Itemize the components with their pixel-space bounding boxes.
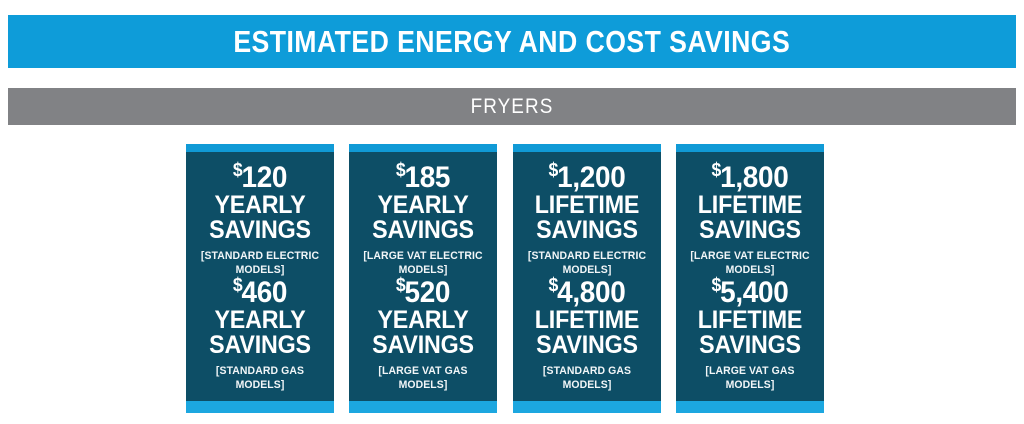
stat-amount: $5,400 — [685, 277, 815, 308]
savings-card: $1,200 LIFETIME SAVINGS [STANDARD ELECTR… — [513, 144, 661, 412]
stat-period: YEARLY — [195, 308, 325, 333]
card-top-accent-bar — [349, 144, 497, 152]
card-bottom-accent-bar — [186, 401, 334, 413]
stat-caption: [LARGE VAT ELECTRIC MODELS] — [683, 250, 816, 278]
card-top-accent-bar — [513, 144, 661, 152]
stat-block: $1,800 LIFETIME SAVINGS [LARGE VAT ELECT… — [680, 162, 820, 277]
stat-amount: $520 — [358, 277, 488, 308]
savings-card: $1,800 LIFETIME SAVINGS [LARGE VAT ELECT… — [676, 144, 824, 412]
savings-card: $185 YEARLY SAVINGS [LARGE VAT ELECTRIC … — [349, 144, 497, 412]
stat-period: YEARLY — [195, 193, 325, 218]
stat-caption: [STANDARD ELECTRIC MODELS] — [520, 250, 653, 278]
stat-amount: $185 — [358, 162, 488, 193]
stat-period: LIFETIME — [522, 193, 652, 218]
stat-savings-word: SAVINGS — [685, 218, 815, 243]
stat-caption: [LARGE VAT ELECTRIC MODELS] — [357, 250, 490, 278]
amount-value: 1,800 — [720, 161, 788, 194]
amount-value: 5,400 — [720, 276, 788, 309]
card-bottom-accent-bar — [513, 401, 661, 413]
page-title: ESTIMATED ENERGY AND COST SAVINGS — [234, 26, 791, 57]
stat-caption: [LARGE VAT GAS MODELS] — [683, 365, 816, 393]
stat-block: $1,200 LIFETIME SAVINGS [STANDARD ELECTR… — [517, 162, 657, 277]
stat-savings-word: SAVINGS — [685, 333, 815, 358]
stat-block: $4,800 LIFETIME SAVINGS [STANDARD GAS MO… — [517, 277, 657, 392]
stat-amount: $1,200 — [522, 162, 652, 193]
stat-block: $460 YEARLY SAVINGS [STANDARD GAS MODELS… — [190, 277, 330, 392]
amount-value: 1,200 — [557, 161, 625, 194]
category-banner: FRYERS — [8, 88, 1016, 125]
card-body: $1,800 LIFETIME SAVINGS [LARGE VAT ELECT… — [676, 152, 824, 401]
amount-value: 4,800 — [557, 276, 625, 309]
card-bottom-accent-bar — [676, 401, 824, 413]
stat-period: LIFETIME — [685, 193, 815, 218]
stat-amount: $4,800 — [522, 277, 652, 308]
amount-value: 520 — [405, 276, 451, 309]
stat-amount: $120 — [195, 162, 325, 193]
stat-period: LIFETIME — [522, 308, 652, 333]
stat-caption: [STANDARD GAS MODELS] — [194, 365, 327, 393]
stat-savings-word: SAVINGS — [358, 333, 488, 358]
savings-card: $120 YEARLY SAVINGS [STANDARD ELECTRIC M… — [186, 144, 334, 412]
stat-caption: [LARGE VAT GAS MODELS] — [357, 365, 490, 393]
stat-period: YEARLY — [358, 308, 488, 333]
amount-value: 120 — [241, 161, 287, 194]
amount-value: 460 — [241, 276, 287, 309]
stat-caption: [STANDARD GAS MODELS] — [520, 365, 653, 393]
amount-value: 185 — [405, 161, 451, 194]
card-body: $120 YEARLY SAVINGS [STANDARD ELECTRIC M… — [186, 152, 334, 401]
card-top-accent-bar — [186, 144, 334, 152]
card-bottom-accent-bar — [349, 401, 497, 413]
stat-savings-word: SAVINGS — [522, 333, 652, 358]
card-top-accent-bar — [676, 144, 824, 152]
stat-savings-word: SAVINGS — [522, 218, 652, 243]
stat-amount: $460 — [195, 277, 325, 308]
stat-savings-word: SAVINGS — [195, 218, 325, 243]
savings-cards-row: $120 YEARLY SAVINGS [STANDARD ELECTRIC M… — [186, 144, 824, 412]
stat-amount: $1,800 — [685, 162, 815, 193]
stat-period: YEARLY — [358, 193, 488, 218]
stat-block: $185 YEARLY SAVINGS [LARGE VAT ELECTRIC … — [353, 162, 493, 277]
stat-savings-word: SAVINGS — [358, 218, 488, 243]
card-body: $185 YEARLY SAVINGS [LARGE VAT ELECTRIC … — [349, 152, 497, 401]
header-banner: ESTIMATED ENERGY AND COST SAVINGS — [8, 15, 1016, 68]
category-title: FRYERS — [471, 96, 554, 117]
stat-caption: [STANDARD ELECTRIC MODELS] — [194, 250, 327, 278]
stat-block: $120 YEARLY SAVINGS [STANDARD ELECTRIC M… — [190, 162, 330, 277]
card-body: $1,200 LIFETIME SAVINGS [STANDARD ELECTR… — [513, 152, 661, 401]
stat-block: $5,400 LIFETIME SAVINGS [LARGE VAT GAS M… — [680, 277, 820, 392]
stat-block: $520 YEARLY SAVINGS [LARGE VAT GAS MODEL… — [353, 277, 493, 392]
stat-savings-word: SAVINGS — [195, 333, 325, 358]
stat-period: LIFETIME — [685, 308, 815, 333]
